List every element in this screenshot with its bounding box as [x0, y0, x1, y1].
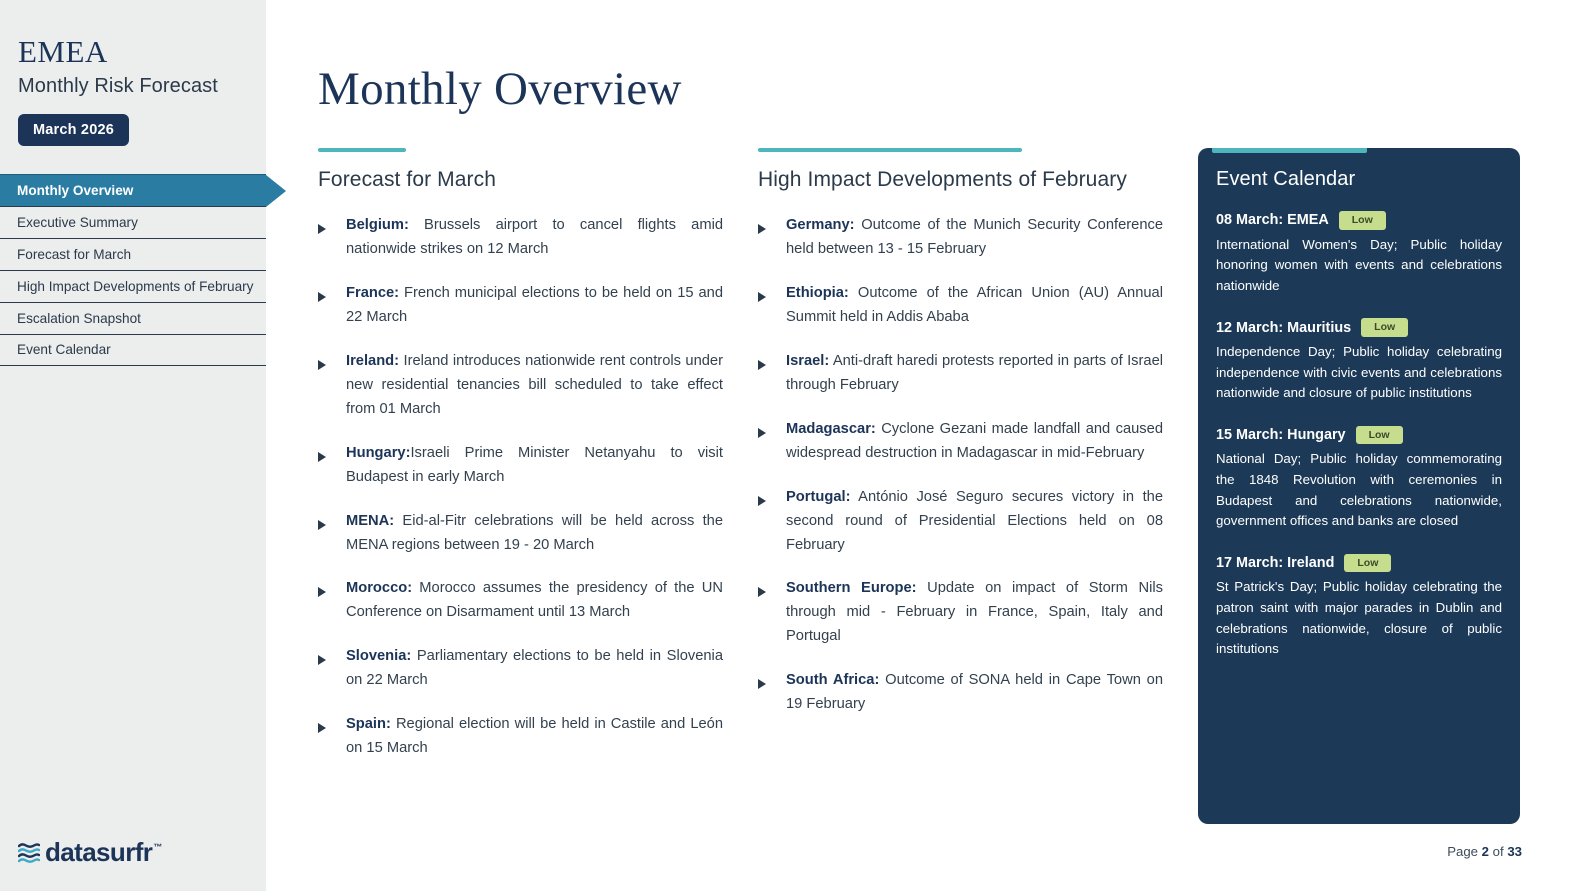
- bullet-text: Madagascar: Cyclone Gezani made landfall…: [786, 418, 1163, 466]
- calendar-event-header: 15 March: HungaryLow: [1216, 426, 1502, 445]
- developments-column: High Impact Developments of February Ger…: [758, 148, 1163, 781]
- triangle-bullet-icon: [318, 282, 346, 307]
- calendar-event-header: 12 March: MauritiusLow: [1216, 318, 1502, 337]
- bullet-item: Belgium: Brussels airport to cancel flig…: [318, 214, 723, 262]
- sidebar-item-label: Forecast for March: [17, 247, 131, 262]
- brand-footer-logo: datasurfr ™: [18, 839, 161, 865]
- triangle-bullet-icon: [758, 418, 786, 443]
- page-number: Page 2 of 33: [1447, 844, 1522, 859]
- triangle-bullet-icon: [318, 214, 346, 239]
- triangle-glyph: [318, 360, 326, 370]
- bullet-label: Ireland:: [346, 353, 399, 369]
- bullet-body: Eid-al-Fitr celebrations will be held ac…: [346, 513, 723, 553]
- triangle-glyph: [758, 496, 766, 506]
- triangle-glyph: [318, 224, 326, 234]
- page-number-prefix: Page: [1447, 844, 1481, 859]
- bullet-item: South Africa: Outcome of SONA held in Ca…: [758, 669, 1163, 717]
- bullet-label: Portugal:: [786, 489, 850, 505]
- logo-wordmark: datasurfr: [45, 839, 152, 865]
- risk-level-badge: Low: [1344, 554, 1391, 573]
- sidebar-item-label: Monthly Overview: [17, 183, 133, 198]
- bullet-item: Ireland: Ireland introduces nationwide r…: [318, 350, 723, 422]
- calendar-event-title: 15 March: Hungary: [1216, 427, 1346, 443]
- triangle-bullet-icon: [758, 282, 786, 307]
- bullet-text: Ireland: Ireland introduces nationwide r…: [346, 350, 723, 422]
- bullet-label: Spain:: [346, 716, 391, 732]
- sidebar-item-high-impact-developments-of-february[interactable]: High Impact Developments of February: [0, 270, 266, 302]
- sidebar-item-label: Executive Summary: [17, 215, 138, 230]
- triangle-glyph: [758, 360, 766, 370]
- calendar-event-description: International Women's Day; Public holida…: [1216, 235, 1502, 297]
- brand-title: EMEA: [18, 36, 266, 69]
- bullet-text: Slovenia: Parliamentary elections to be …: [346, 645, 723, 693]
- triangle-bullet-icon: [758, 577, 786, 602]
- triangle-glyph: [318, 452, 326, 462]
- triangle-bullet-icon: [318, 713, 346, 738]
- sidebar-item-event-calendar[interactable]: Event Calendar: [0, 334, 266, 366]
- brand-block: EMEA Monthly Risk Forecast March 2026: [0, 0, 266, 146]
- bullet-label: South Africa:: [786, 672, 879, 688]
- calendar-event-title: 17 March: Ireland: [1216, 555, 1334, 571]
- bullet-body: Anti-draft haredi protests reported in p…: [786, 353, 1163, 393]
- page-title: Monthly Overview: [318, 62, 682, 116]
- bullet-item: Madagascar: Cyclone Gezani made landfall…: [758, 418, 1163, 466]
- bullet-item: Morocco: Morocco assumes the presidency …: [318, 577, 723, 625]
- forecast-heading: Forecast for March: [318, 168, 723, 192]
- calendar-event-title: 08 March: EMEA: [1216, 212, 1329, 228]
- page-number-current: 2: [1482, 844, 1489, 859]
- calendar-event-header: 17 March: IrelandLow: [1216, 554, 1502, 573]
- risk-level-badge: Low: [1361, 318, 1408, 337]
- sidebar-item-executive-summary[interactable]: Executive Summary: [0, 206, 266, 238]
- sidebar-item-label: Escalation Snapshot: [17, 311, 141, 326]
- bullet-item: Portugal: António José Seguro secures vi…: [758, 486, 1163, 558]
- triangle-bullet-icon: [318, 510, 346, 535]
- bullet-item: Slovenia: Parliamentary elections to be …: [318, 645, 723, 693]
- main-content: Monthly Overview Forecast for March Belg…: [266, 0, 1584, 891]
- accent-bar-forecast: [318, 148, 406, 152]
- bullet-label: Hungary:: [346, 445, 410, 461]
- brand-subtitle: Monthly Risk Forecast: [18, 75, 266, 98]
- bullet-text: Hungary:Israeli Prime Minister Netanyahu…: [346, 442, 723, 490]
- sidebar: EMEA Monthly Risk Forecast March 2026 Mo…: [0, 0, 266, 891]
- triangle-glyph: [318, 587, 326, 597]
- bullet-body: Regional election will be held in Castil…: [346, 716, 723, 756]
- calendar-event: 12 March: MauritiusLowIndependence Day; …: [1216, 318, 1502, 403]
- sidebar-item-monthly-overview[interactable]: Monthly Overview: [0, 174, 266, 206]
- bullet-label: MENA:: [346, 513, 394, 529]
- triangle-glyph: [318, 723, 326, 733]
- bullet-text: Ethiopia: Outcome of the African Union (…: [786, 282, 1163, 330]
- bullet-text: Germany: Outcome of the Munich Security …: [786, 214, 1163, 262]
- page-number-total: 33: [1507, 844, 1522, 859]
- triangle-glyph: [758, 224, 766, 234]
- event-calendar-list: 08 March: EMEALowInternational Women's D…: [1216, 211, 1502, 660]
- calendar-event: 15 March: HungaryLowNational Day; Public…: [1216, 426, 1502, 532]
- bullet-text: Belgium: Brussels airport to cancel flig…: [346, 214, 723, 262]
- calendar-event-description: National Day; Public holiday commemorati…: [1216, 449, 1502, 531]
- calendar-event-header: 08 March: EMEALow: [1216, 211, 1502, 230]
- bullet-item: Southern Europe: Update on impact of Sto…: [758, 577, 1163, 649]
- accent-bar-calendar: [1212, 148, 1367, 153]
- triangle-glyph: [318, 655, 326, 665]
- triangle-bullet-icon: [758, 350, 786, 375]
- triangle-glyph: [758, 292, 766, 302]
- bullet-label: Ethiopia:: [786, 285, 849, 301]
- calendar-event-description: St Patrick's Day; Public holiday celebra…: [1216, 577, 1502, 659]
- triangle-glyph: [318, 520, 326, 530]
- triangle-glyph: [758, 587, 766, 597]
- calendar-event: 08 March: EMEALowInternational Women's D…: [1216, 211, 1502, 296]
- bullet-text: Morocco: Morocco assumes the presidency …: [346, 577, 723, 625]
- bullet-text: South Africa: Outcome of SONA held in Ca…: [786, 669, 1163, 717]
- bullet-text: Spain: Regional election will be held in…: [346, 713, 723, 761]
- bullet-label: Madagascar:: [786, 421, 876, 437]
- calendar-event-title: 12 March: Mauritius: [1216, 320, 1351, 336]
- bullet-text: MENA: Eid-al-Fitr celebrations will be h…: [346, 510, 723, 558]
- triangle-glyph: [318, 292, 326, 302]
- event-calendar-panel: Event Calendar 08 March: EMEALowInternat…: [1198, 148, 1520, 824]
- bullet-text: Israel: Anti-draft haredi protests repor…: [786, 350, 1163, 398]
- bullet-item: Ethiopia: Outcome of the African Union (…: [758, 282, 1163, 330]
- sidebar-item-forecast-for-march[interactable]: Forecast for March: [0, 238, 266, 270]
- bullet-item: Israel: Anti-draft haredi protests repor…: [758, 350, 1163, 398]
- risk-level-badge: Low: [1356, 426, 1403, 445]
- triangle-bullet-icon: [758, 214, 786, 239]
- bullet-item: MENA: Eid-al-Fitr celebrations will be h…: [318, 510, 723, 558]
- calendar-event: 17 March: IrelandLowSt Patrick's Day; Pu…: [1216, 554, 1502, 660]
- bullet-item: Germany: Outcome of the Munich Security …: [758, 214, 1163, 262]
- bullet-label: Belgium:: [346, 217, 409, 233]
- calendar-event-description: Independence Day; Public holiday celebra…: [1216, 342, 1502, 404]
- forecast-bullet-list: Belgium: Brussels airport to cancel flig…: [318, 214, 723, 761]
- sidebar-item-label: Event Calendar: [17, 342, 111, 357]
- triangle-bullet-icon: [318, 442, 346, 467]
- bullet-body: Ireland introduces nationwide rent contr…: [346, 353, 723, 417]
- developments-heading: High Impact Developments of February: [758, 168, 1163, 192]
- bullet-label: France:: [346, 285, 399, 301]
- accent-bar-developments: [758, 148, 1022, 152]
- period-badge: March 2026: [18, 114, 129, 146]
- bullet-body: French municipal elections to be held on…: [346, 285, 723, 325]
- bullet-item: France: French municipal elections to be…: [318, 282, 723, 330]
- sidebar-nav: Monthly OverviewExecutive SummaryForecas…: [0, 174, 266, 366]
- logo-trademark-symbol: ™: [153, 842, 162, 852]
- bullet-text: Southern Europe: Update on impact of Sto…: [786, 577, 1163, 649]
- bullet-label: Slovenia:: [346, 648, 411, 664]
- triangle-bullet-icon: [318, 577, 346, 602]
- developments-bullet-list: Germany: Outcome of the Munich Security …: [758, 214, 1163, 717]
- report-page: EMEA Monthly Risk Forecast March 2026 Mo…: [0, 0, 1584, 891]
- sidebar-item-escalation-snapshot[interactable]: Escalation Snapshot: [0, 302, 266, 334]
- wave-logo-icon: [18, 843, 40, 863]
- event-calendar-title: Event Calendar: [1216, 168, 1502, 191]
- bullet-label: Germany:: [786, 217, 855, 233]
- triangle-bullet-icon: [758, 669, 786, 694]
- sidebar-item-label: High Impact Developments of February: [17, 279, 253, 294]
- bullet-label: Southern Europe:: [786, 580, 917, 596]
- bullet-label: Israel:: [786, 353, 829, 369]
- risk-level-badge: Low: [1339, 211, 1386, 230]
- triangle-bullet-icon: [318, 645, 346, 670]
- page-number-middle: of: [1489, 844, 1507, 859]
- bullet-label: Morocco:: [346, 580, 412, 596]
- bullet-item: Hungary:Israeli Prime Minister Netanyahu…: [318, 442, 723, 490]
- triangle-bullet-icon: [758, 486, 786, 511]
- bullet-text: Portugal: António José Seguro secures vi…: [786, 486, 1163, 558]
- bullet-text: France: French municipal elections to be…: [346, 282, 723, 330]
- bullet-item: Spain: Regional election will be held in…: [318, 713, 723, 761]
- triangle-glyph: [758, 679, 766, 689]
- forecast-column: Forecast for March Belgium: Brussels air…: [318, 148, 723, 781]
- triangle-glyph: [758, 428, 766, 438]
- triangle-bullet-icon: [318, 350, 346, 375]
